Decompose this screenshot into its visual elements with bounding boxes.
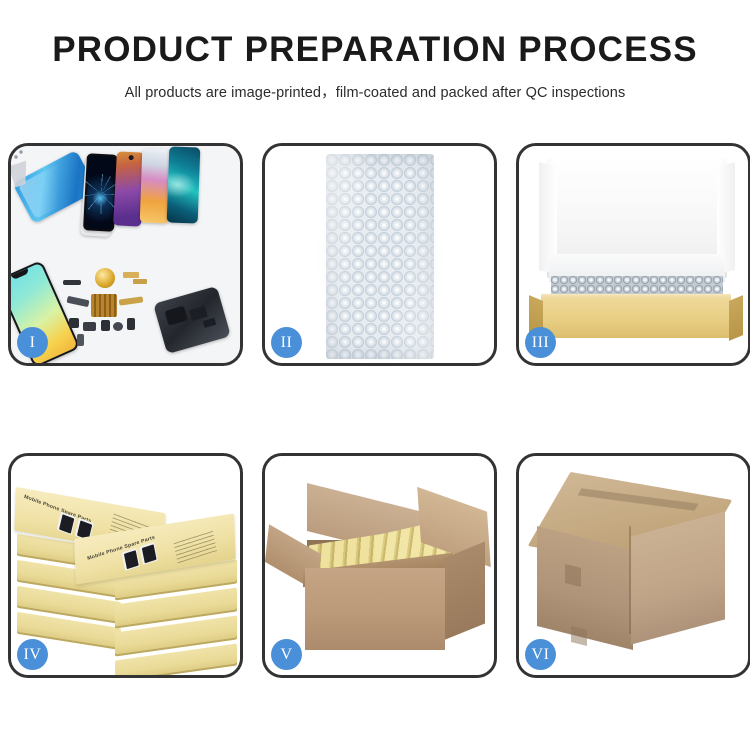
flex-cable-part-icon <box>133 279 147 284</box>
carton-loading-image <box>265 456 494 675</box>
carton-tab-icon <box>571 626 587 646</box>
step-badge-2: II <box>271 327 302 358</box>
carton-front-icon <box>305 568 445 650</box>
carton-vertical-edge-icon <box>629 526 631 634</box>
small-part-icon <box>113 322 123 331</box>
screws-icon <box>11 146 25 160</box>
strip-part-icon <box>63 280 81 285</box>
small-part-icon <box>101 320 110 331</box>
box-label-thumbnail <box>122 548 140 571</box>
step-badge-3: III <box>525 327 556 358</box>
product-preparation-infographic: PRODUCT PREPARATION PROCESS All products… <box>0 0 750 750</box>
cable-part-icon <box>119 296 144 305</box>
labelled-box-stack-image: Mobile Phone Spare Parts Mobile Phone Sp… <box>11 456 240 675</box>
page-subtitle: All products are image-printed，film-coat… <box>0 81 750 102</box>
sealed-carton-image <box>519 456 748 675</box>
cable-part-icon <box>67 296 90 307</box>
small-part-icon <box>69 318 79 328</box>
box-label-thumbnail <box>139 542 157 565</box>
step-panel-6: VI <box>516 453 750 678</box>
bubble-wrap-image <box>265 146 494 363</box>
products-and-spare-parts-image <box>11 146 240 363</box>
box-label-thumbnail <box>57 512 76 535</box>
box-label-textlines <box>173 530 216 564</box>
step-badge-1: I <box>17 327 48 358</box>
step-badge-4: IV <box>17 639 48 670</box>
page-title: PRODUCT PREPARATION PROCESS <box>0 32 750 69</box>
step-badge-6: VI <box>525 639 556 670</box>
box-stack: Mobile Phone Spare Parts Mobile Phone Sp… <box>15 472 240 672</box>
step-panel-2: II <box>262 143 497 366</box>
step-panel-1: I <box>8 143 243 366</box>
chip-grid-part-icon <box>91 294 117 317</box>
bubble-wrap-icon <box>326 154 434 359</box>
header: PRODUCT PREPARATION PROCESS All products… <box>0 0 750 102</box>
carton-side-icon <box>443 542 485 641</box>
process-steps-grid: I II III <box>8 143 742 678</box>
coil-part-icon <box>95 268 115 288</box>
step-panel-4: Mobile Phone Spare Parts Mobile Phone Sp… <box>8 453 243 678</box>
small-part-icon <box>83 322 96 331</box>
phone-back-housing-icon <box>153 286 231 354</box>
kraft-box-body-icon <box>541 298 731 338</box>
step-panel-5: V <box>262 453 497 678</box>
inner-box-packing-image <box>519 146 748 363</box>
flex-cable-part-icon <box>123 272 139 278</box>
step-badge-5: V <box>271 639 302 670</box>
sealed-carton <box>531 482 737 660</box>
teal-phone-icon <box>167 146 201 223</box>
small-part-icon <box>127 318 135 330</box>
small-part-icon <box>77 334 84 346</box>
open-carton <box>283 490 483 660</box>
step-panel-3: III <box>516 143 750 366</box>
carton-tab-icon <box>565 564 581 587</box>
